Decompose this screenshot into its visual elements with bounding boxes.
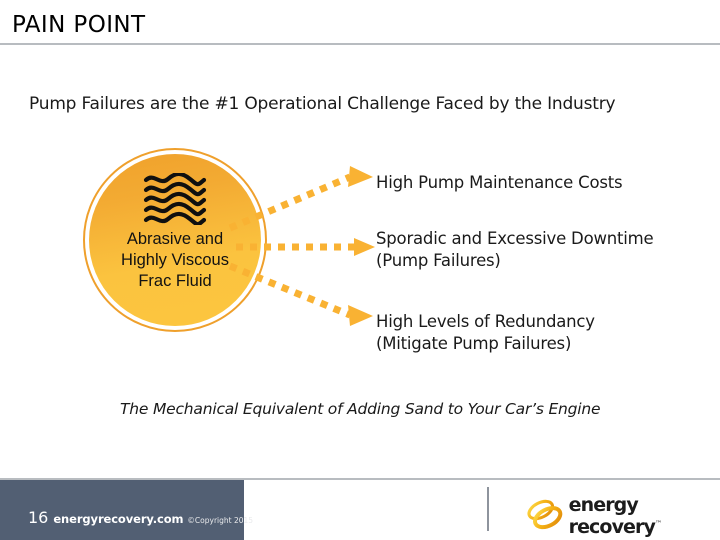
footer-info: 16 energyrecovery.com ©Copyright 2015 bbox=[28, 508, 253, 527]
footer-vertical-divider bbox=[487, 487, 489, 531]
circle-label: Abrasive and Highly Viscous Frac Fluid bbox=[121, 229, 229, 291]
bullet-item-2: Sporadic and Excessive Downtime (Pump Fa… bbox=[376, 228, 654, 273]
page-number: 16 bbox=[28, 508, 48, 527]
arrow-right-icon bbox=[236, 238, 375, 256]
bullet-item-1: High Pump Maintenance Costs bbox=[376, 172, 622, 194]
header-divider bbox=[0, 43, 720, 45]
circle-label-line-3: Frac Fluid bbox=[121, 271, 229, 292]
circle-label-line-2: Highly Viscous bbox=[121, 250, 229, 271]
footer-copyright: ©Copyright 2015 bbox=[187, 516, 253, 525]
energy-recovery-swirl-icon bbox=[524, 494, 566, 534]
logo-wordmark: energy recovery™ bbox=[569, 494, 720, 538]
bullet-item-3: High Levels of Redundancy (Mitigate Pump… bbox=[376, 311, 595, 356]
footer-website: energyrecovery.com bbox=[53, 512, 183, 526]
logo-wordmark-text: energy recovery bbox=[569, 494, 655, 538]
subtitle-text: Pump Failures are the #1 Operational Cha… bbox=[29, 94, 615, 114]
company-logo: energy recovery™ bbox=[524, 492, 720, 536]
circle-label-line-1: Abrasive and bbox=[121, 229, 229, 250]
page-title: PAIN POINT bbox=[12, 14, 145, 37]
trademark-icon: ™ bbox=[655, 520, 661, 528]
arrow-up-icon bbox=[230, 166, 373, 228]
arrow-down-icon bbox=[230, 266, 373, 326]
caption-text: The Mechanical Equivalent of Adding Sand… bbox=[120, 400, 600, 418]
waves-icon bbox=[143, 173, 207, 225]
arrow-group bbox=[228, 160, 388, 345]
